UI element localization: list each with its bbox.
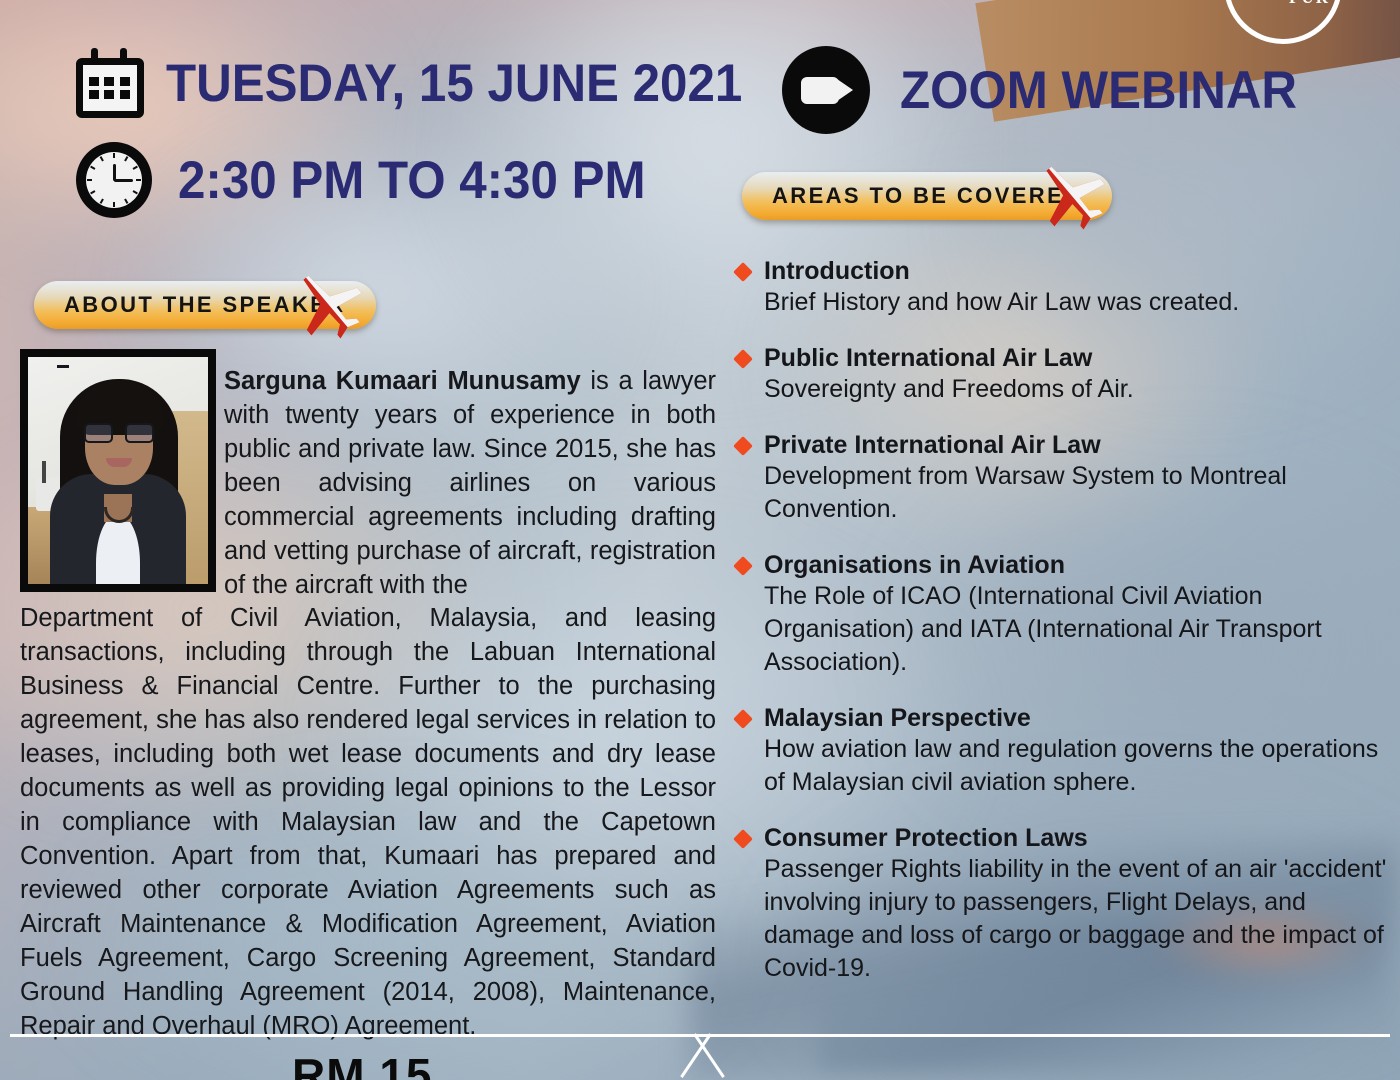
calendar-icon xyxy=(76,48,144,118)
list-item: Private International Air Law Developmen… xyxy=(736,430,1388,526)
speaker-photo xyxy=(20,349,216,592)
platform-label: ZOOM WEBINAR xyxy=(900,60,1297,121)
badge-pill: AREAS TO BE COVERED xyxy=(742,172,1112,220)
about-the-speaker-label: ABOUT THE SPEAKER xyxy=(64,292,346,318)
speaker-bio-top: Sarguna Kumaari Munusamy is a lawyer wit… xyxy=(224,364,716,602)
area-title: Public International Air Law xyxy=(764,343,1388,373)
area-description: How aviation law and regulation governs … xyxy=(764,733,1388,799)
diamond-bullet-icon xyxy=(733,262,753,282)
speaker-name: Sarguna Kumaari Munusamy xyxy=(224,367,581,395)
banner-v-notch xyxy=(673,1034,729,1078)
speaker-portrait-illustration xyxy=(28,357,208,584)
diamond-bullet-icon xyxy=(733,556,753,576)
area-title: Introduction xyxy=(764,256,1388,286)
area-title: Private International Air Law xyxy=(764,430,1388,460)
area-title: Consumer Protection Laws xyxy=(764,823,1388,853)
diamond-bullet-icon xyxy=(733,349,753,369)
list-item: Consumer Protection Laws Passenger Right… xyxy=(736,823,1388,985)
diamond-bullet-icon xyxy=(733,709,753,729)
zoom-camera-icon xyxy=(782,46,870,134)
list-item: Malaysian Perspective How aviation law a… xyxy=(736,703,1388,799)
speaker-bio-continued: Department of Civil Aviation, Malaysia, … xyxy=(20,601,716,1043)
area-description: Sovereignty and Freedoms of Air. xyxy=(764,373,1388,406)
list-item: Introduction Brief History and how Air L… xyxy=(736,256,1388,319)
area-description: Brief History and how Air Law was create… xyxy=(764,286,1388,319)
event-time-row: 2:30 PM TO 4:30 PM xyxy=(76,142,681,218)
event-date-label: TUESDAY, 15 JUNE 2021 xyxy=(166,53,742,114)
about-the-speaker-badge: ABOUT THE SPEAKER xyxy=(34,281,376,329)
areas-to-be-covered-badge: AREAS TO BE COVERED xyxy=(742,172,1112,220)
area-title: Malaysian Perspective xyxy=(764,703,1388,733)
area-description: Development from Warsaw System to Montre… xyxy=(764,460,1388,526)
diamond-bullet-icon xyxy=(733,436,753,456)
area-title: Organisations in Aviation xyxy=(764,550,1388,580)
list-item: Public International Air Law Sovereignty… xyxy=(736,343,1388,406)
price-label: RM 15 xyxy=(292,1048,432,1080)
event-date-row: TUESDAY, 15 JUNE 2021 xyxy=(76,48,786,118)
bottom-price-banner: RM 15 xyxy=(0,1034,1400,1080)
list-item: Organisations in Aviation The Role of IC… xyxy=(736,550,1388,679)
badge-pill: ABOUT THE SPEAKER xyxy=(34,281,376,329)
banner-rule-right xyxy=(700,1034,1390,1037)
areas-list: Introduction Brief History and how Air L… xyxy=(736,256,1388,1009)
area-description: Passenger Rights liability in the event … xyxy=(764,853,1388,985)
area-description: The Role of ICAO (International Civil Av… xyxy=(764,580,1388,679)
speaker-bio-intro: is a lawyer with twenty years of experie… xyxy=(224,367,716,599)
clock-icon xyxy=(76,142,152,218)
areas-to-be-covered-label: AREAS TO BE COVERED xyxy=(772,183,1082,209)
diamond-bullet-icon xyxy=(733,829,753,849)
banner-rule-left xyxy=(10,1034,700,1037)
platform-row: ZOOM WEBINAR xyxy=(782,46,1327,134)
event-time-label: 2:30 PM TO 4:30 PM xyxy=(178,150,646,211)
